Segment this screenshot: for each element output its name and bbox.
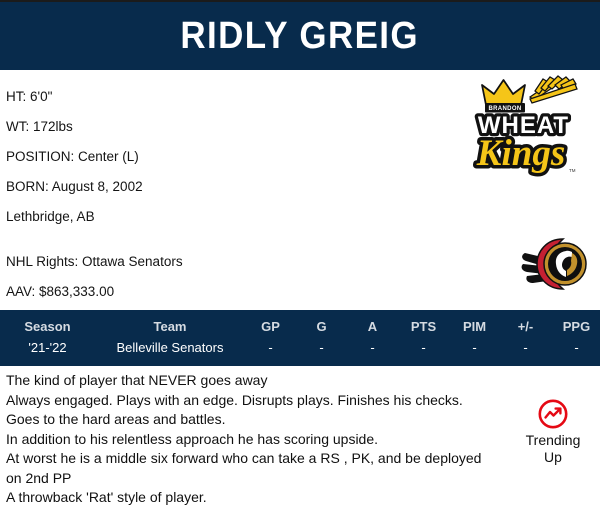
report-line: At worst he is a middle six forward who … [6,449,486,488]
col-header-pts: PTS [398,317,449,340]
bio-nhl-rights: NHL Rights: Ottawa Senators [6,247,336,277]
bio-height: HT: 6'0" [6,82,336,112]
player-card: RIDLY GREIG HT: 6'0" WT: 172lbs POSITION… [0,0,600,525]
cell-team: Belleville Senators [95,340,245,357]
bio-position: POSITION: Center (L) [6,142,336,172]
cell-ppg: - [551,340,600,357]
logo-wordmark-brandon: BRANDON [488,106,521,112]
col-header-team: Team [95,317,245,340]
bio-section: HT: 6'0" WT: 172lbs POSITION: Center (L)… [0,70,600,310]
cell-gp: - [245,340,296,357]
report-line: The kind of player that NEVER goes away [6,371,486,391]
cell-pts: - [398,340,449,357]
cell-g: - [296,340,347,357]
scouting-report-section: The kind of player that NEVER goes away … [0,366,600,516]
card-header: RIDLY GREIG [0,2,600,70]
scouting-report-text: The kind of player that NEVER goes away … [6,371,486,508]
col-header-gp: GP [245,317,296,340]
bio-weight: WT: 172lbs [6,112,336,142]
col-header-plus-minus: +/- [500,317,551,340]
col-header-ppg: PPG [551,317,600,340]
bio-spacer [6,232,336,247]
trending-label-line2: Up [514,449,592,466]
page-title: RIDLY GREIG [181,15,420,58]
col-header-a: A [347,317,398,340]
report-line: In addition to his relentless approach h… [6,430,486,450]
cell-plus-minus: - [500,340,551,357]
logo-wordmark-kings: Kings [476,133,565,174]
table-row: '21-'22 Belleville Senators - - - - - - … [0,340,600,357]
report-line: Goes to the hard areas and battles. [6,410,486,430]
report-line: Always engaged. Plays with an edge. Disr… [6,391,486,411]
cell-season: '21-'22 [0,340,95,357]
cell-pim: - [449,340,500,357]
ottawa-senators-logo [520,233,588,295]
report-line: A throwback 'Rat' style of player. [6,488,486,508]
stats-header-row: Season Team GP G A PTS PIM +/- PPG [0,317,600,340]
col-header-pim: PIM [449,317,500,340]
stats-table: Season Team GP G A PTS PIM +/- PPG '21-'… [0,310,600,366]
trending-label-line1: Trending [514,432,592,449]
brandon-wheat-kings-logo: BRANDON WHEAT WHEAT Kings Kings TM [455,74,590,186]
bio-born: BORN: August 8, 2002 [6,172,336,202]
trending-status: Trending Up [514,398,592,466]
svg-text:TM: TM [569,168,576,173]
col-header-g: G [296,317,347,340]
bio-list: HT: 6'0" WT: 172lbs POSITION: Center (L)… [6,82,336,307]
bio-hometown: Lethbridge, AB [6,202,336,232]
col-header-season: Season [0,317,95,340]
bio-aav: AAV: $863,333.00 [6,277,336,307]
trending-up-icon [537,398,569,430]
cell-a: - [347,340,398,357]
